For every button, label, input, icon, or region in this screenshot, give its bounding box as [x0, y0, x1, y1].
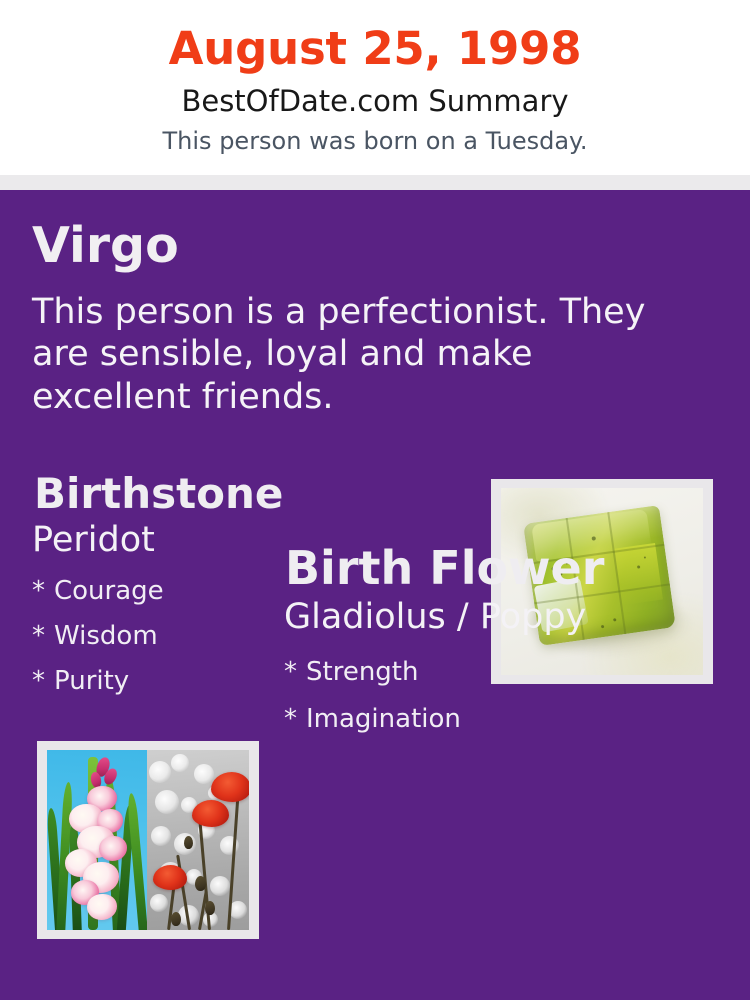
birth-day-tagline: This person was born on a Tuesday. [0, 128, 750, 154]
birthstone-trait-label: Purity [54, 666, 129, 696]
list-item: *Strength [284, 659, 704, 685]
birthflower-trait-list: *Strength *Imagination [284, 659, 704, 753]
gladiolus-panel [47, 750, 147, 930]
birthflower-heading: Birth Flower [285, 545, 604, 591]
bokeh-dot [151, 826, 171, 846]
asterisk-bullet-icon: * [284, 657, 297, 687]
list-item: *Imagination [284, 706, 704, 732]
gladiolus-poppy-photo [47, 750, 249, 930]
bokeh-dot [150, 894, 168, 912]
poppy-bloom [192, 800, 229, 827]
birthstone-name: Peridot [32, 523, 155, 558]
page-title-date: August 25, 1998 [0, 24, 750, 74]
birthflower-image-frame [37, 741, 259, 939]
gem-bright-facet [614, 543, 663, 605]
poppy-bud [184, 836, 193, 849]
zodiac-sign-title: Virgo [32, 221, 179, 270]
poppy-bud [195, 876, 206, 891]
bokeh-dot [171, 754, 189, 772]
asterisk-bullet-icon: * [32, 576, 45, 606]
site-name: BestOfDate.com Summary [0, 86, 750, 118]
birthstone-trait-label: Courage [54, 576, 164, 606]
asterisk-bullet-icon: * [32, 666, 45, 696]
asterisk-bullet-icon: * [284, 704, 297, 734]
summary-card: August 25, 1998 BestOfDate.com Summary T… [0, 0, 750, 1000]
zodiac-description: This person is a perfectionist. They are… [32, 291, 692, 418]
bokeh-dot [155, 790, 179, 814]
header-divider [0, 175, 750, 190]
poppy-bloom [153, 865, 187, 890]
asterisk-bullet-icon: * [32, 621, 45, 651]
bokeh-dot [149, 761, 171, 783]
poppy-bud [205, 901, 215, 915]
birthflower-trait-label: Strength [306, 657, 418, 687]
birthflower-name: Gladiolus / Poppy [284, 600, 586, 635]
birthstone-trait-label: Wisdom [54, 621, 158, 651]
gem-inclusion [613, 618, 616, 621]
birthstone-heading: Birthstone [34, 473, 283, 515]
poppy-panel [147, 750, 249, 930]
gem-inclusion [601, 625, 604, 628]
header: August 25, 1998 BestOfDate.com Summary T… [0, 0, 750, 175]
birthflower-trait-label: Imagination [306, 704, 461, 734]
poppy-bloom [211, 772, 249, 802]
